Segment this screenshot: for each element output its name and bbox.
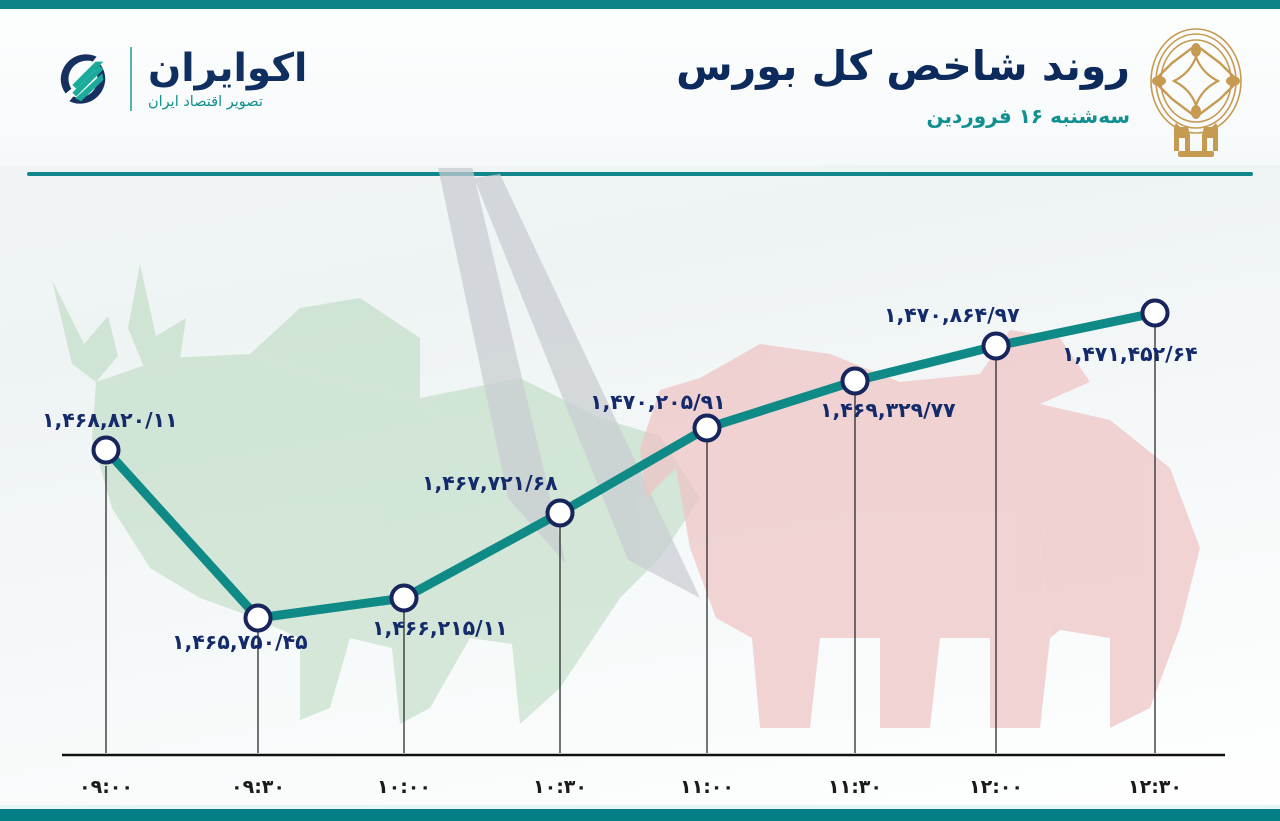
eco-iran-swoosh-icon — [52, 48, 114, 110]
drop-lines — [106, 323, 1155, 753]
chart-container: ۱,۴۶۸,۸۲۰/۱۱ ۱,۴۶۵,۷۵۰/۴۵ ۱,۴۶۶,۲۱۵/۱۱ ۱… — [0, 168, 1280, 808]
brand-logo[interactable]: اکوایران تصویر اقتصاد ایران — [52, 47, 307, 111]
page-title: روند شاخص کل بورس — [676, 43, 1130, 90]
logo-divider — [130, 47, 132, 111]
header: اکوایران تصویر اقتصاد ایران روند شاخص کل… — [0, 9, 1280, 165]
header-title-block: روند شاخص کل بورس سه‌شنبه ۱۶ فروردین — [676, 43, 1130, 128]
data-point-markers[interactable] — [94, 301, 1168, 631]
bottom-accent-bar — [0, 809, 1280, 821]
page-subtitle: سه‌شنبه ۱۶ فروردین — [676, 104, 1130, 128]
brand-tagline: تصویر اقتصاد ایران — [148, 95, 263, 110]
top-accent-bar — [0, 0, 1280, 9]
persian-gold-emblem-icon — [1140, 23, 1252, 163]
line-chart-plot — [0, 168, 1280, 808]
infographic-canvas: اکوایران تصویر اقتصاد ایران روند شاخص کل… — [0, 0, 1280, 821]
brand-name: اکوایران — [148, 49, 307, 88]
brand-logo-text: اکوایران تصویر اقتصاد ایران — [148, 49, 307, 110]
